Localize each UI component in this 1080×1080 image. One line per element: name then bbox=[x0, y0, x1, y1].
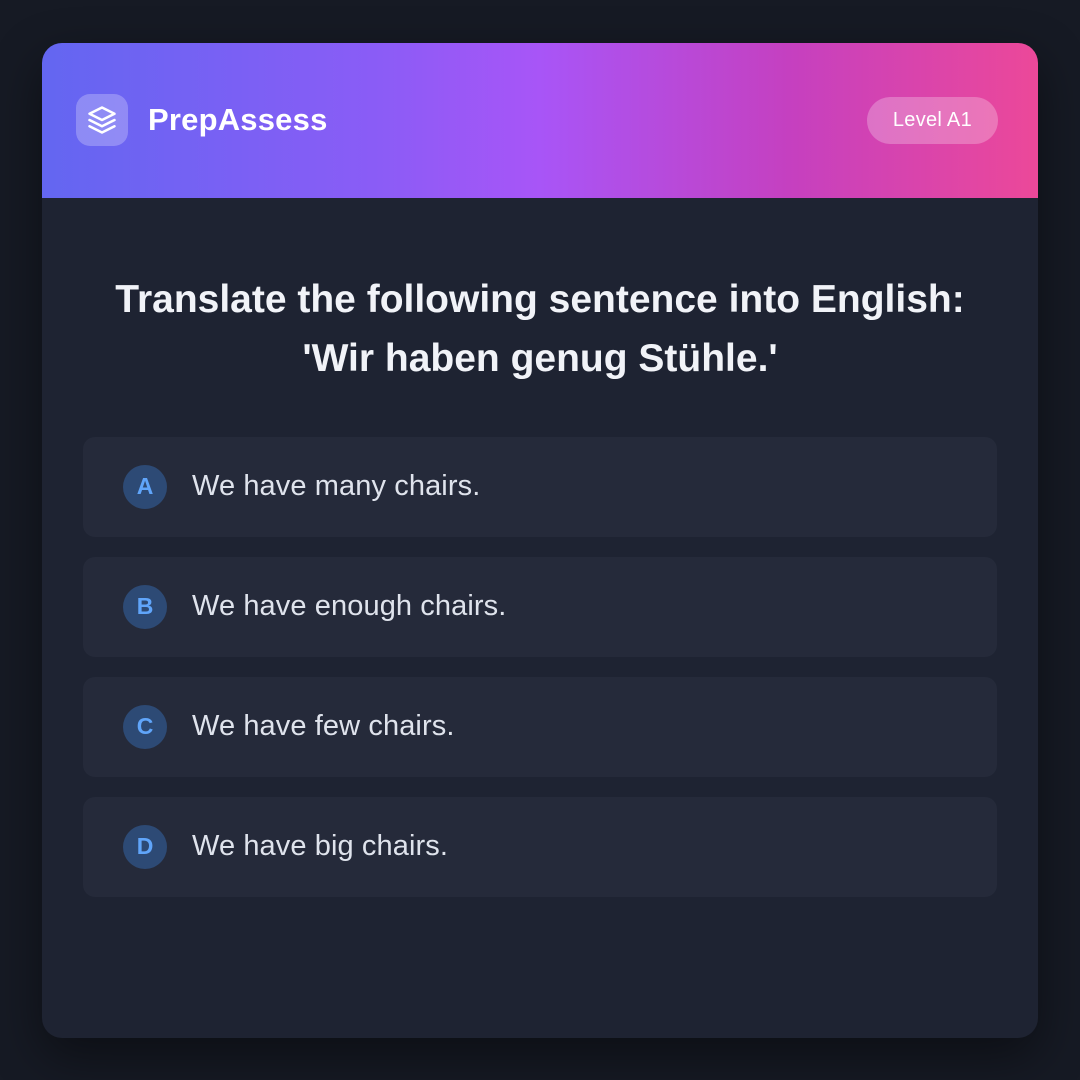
page-background: PrepAssess Level A1 Translate the follow… bbox=[0, 0, 1080, 1080]
option-label: We have enough chairs. bbox=[192, 590, 506, 623]
option-label: We have few chairs. bbox=[192, 710, 454, 743]
option-row-c[interactable]: C We have few chairs. bbox=[83, 677, 997, 777]
option-row-a[interactable]: A We have many chairs. bbox=[83, 437, 997, 537]
brand-name: PrepAssess bbox=[148, 102, 328, 138]
option-letter-badge: C bbox=[123, 705, 167, 749]
option-letter-badge: B bbox=[123, 585, 167, 629]
option-row-b[interactable]: B We have enough chairs. bbox=[83, 557, 997, 657]
option-letter-badge: A bbox=[123, 465, 167, 509]
brand: PrepAssess bbox=[76, 94, 328, 146]
layers-icon bbox=[76, 94, 128, 146]
option-letter-badge: D bbox=[123, 825, 167, 869]
question-text: Translate the following sentence into En… bbox=[83, 270, 997, 389]
quiz-card: PrepAssess Level A1 Translate the follow… bbox=[42, 43, 1038, 1038]
option-row-d[interactable]: D We have big chairs. bbox=[83, 797, 997, 897]
option-label: We have big chairs. bbox=[192, 830, 448, 863]
card-body: Translate the following sentence into En… bbox=[42, 198, 1038, 1038]
card-header: PrepAssess Level A1 bbox=[42, 43, 1038, 198]
option-label: We have many chairs. bbox=[192, 470, 480, 503]
options-list: A We have many chairs. B We have enough … bbox=[83, 437, 997, 897]
level-badge: Level A1 bbox=[867, 97, 998, 144]
